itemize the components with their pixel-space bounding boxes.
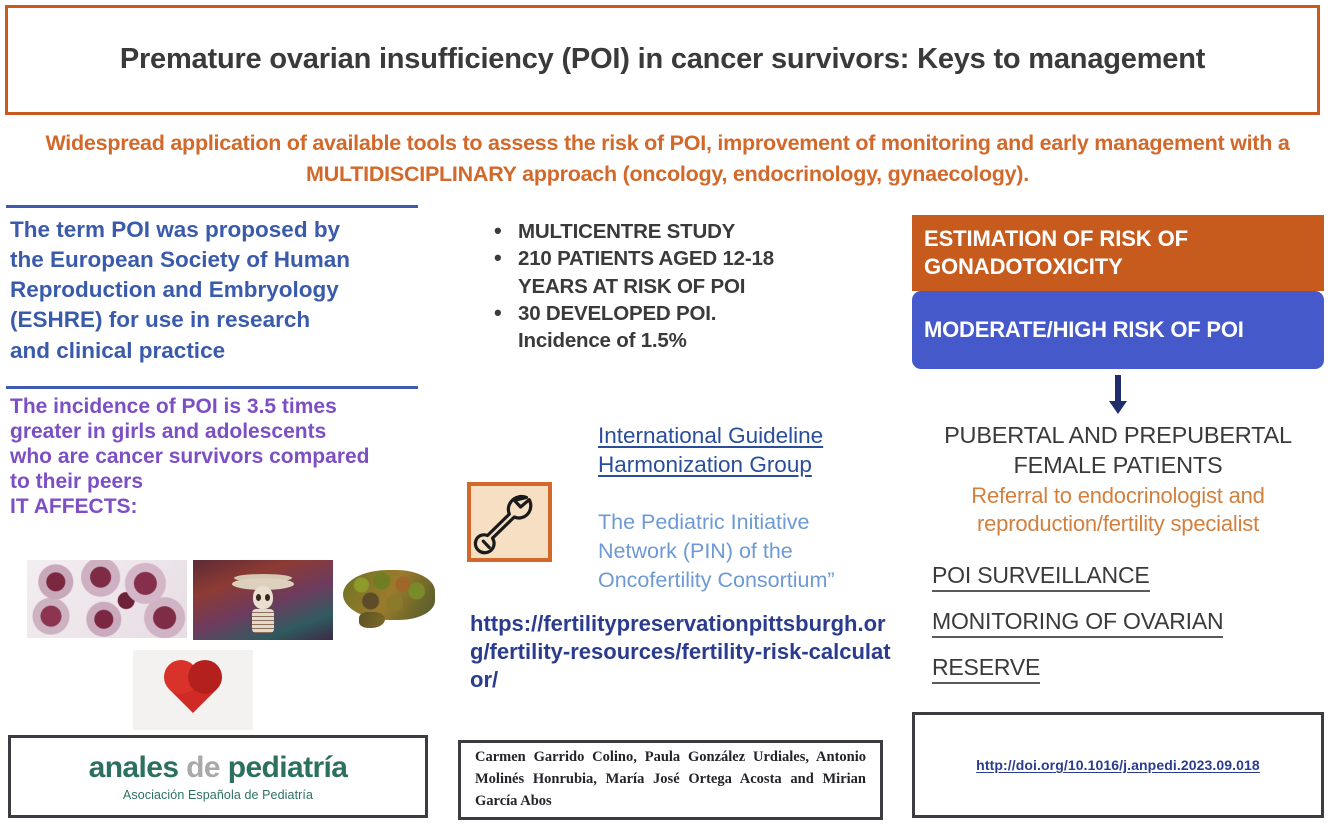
moderate-high-risk-box: MODERATE/HIGH RISK OF POI [912,291,1324,369]
journal-name-part2: de [186,751,220,784]
journal-association: Asociación Española de Pediatría [123,788,313,802]
journal-name-part1: anales [89,751,179,784]
reserve-label: RESERVE [932,654,1040,684]
journal-name: anales de pediatría [89,751,348,785]
list-item: 210 PATIENTS AGED 12-18 YEARS AT RISK OF… [460,245,910,300]
reserve-wrap: RESERVE [932,654,1327,684]
monitoring-ovarian-wrap: MONITORING OF OVARIAN [932,608,1327,638]
authors-box: Carmen Garrido Colino, Paula González Ur… [458,740,883,820]
subtitle-statement: Widespread application of available tool… [10,128,1325,189]
journal-logo-box: anales de pediatría Asociación Española … [8,735,428,818]
doi-box: http://doi.org/10.1016/j.anpedi.2023.09.… [912,712,1324,818]
referral-text: Referral to endocrinologist and reproduc… [912,482,1324,538]
ribcage-shape [252,609,274,633]
list-item: MULTICENTRE STUDY [460,218,910,245]
monitoring-ovarian-label: MONITORING OF OVARIAN [932,608,1223,638]
list-item: 30 DEVELOPED POI. Incidence of 1.5% [460,300,910,355]
pin-consortium-text: The Pediatric Initiative Network (PIN) o… [598,508,898,595]
left-column: The term POI was proposed by the Europea… [0,205,455,825]
divider-second [6,386,418,389]
wrench-icon [467,482,552,562]
ighg-link[interactable]: International Guideline Harmonization Gr… [598,422,898,480]
eye-left [256,594,261,601]
eye-right [265,594,270,601]
eshre-definition-text: The term POI was proposed by the Europea… [10,215,430,366]
cerebellum-shape [359,612,385,628]
heart-image [133,650,253,730]
poi-surveillance-wrap: POI SURVEILLANCE [932,562,1327,592]
down-arrow-icon [912,369,1324,415]
right-column: ESTIMATION OF RISK OF GONADOTOXICITY MOD… [912,215,1327,684]
divider-top [6,205,418,208]
brain-lobe-shape [343,570,435,620]
pubertal-patients-text: PUBERTAL AND PREPUBERTAL FEMALE PATIENTS [912,421,1324,480]
heart-shape [169,665,217,713]
journal-name-part3: pediatría [228,751,348,784]
study-bullet-list: MULTICENTRE STUDY 210 PATIENTS AGED 12-1… [460,218,910,354]
middle-column: MULTICENTRE STUDY 210 PATIENTS AGED 12-1… [460,218,910,354]
estimation-of-risk-box: ESTIMATION OF RISK OF GONADOTOXICITY [912,215,1324,291]
authors-list: Carmen Garrido Colino, Paula González Ur… [461,747,880,812]
skull-shape [253,586,273,609]
incidence-text: The incidence of POI is 3.5 times greate… [10,395,458,520]
fertility-risk-calculator-url[interactable]: https://fertilitypreservationpittsburgh.… [470,610,900,694]
poi-surveillance-label: POI SURVEILLANCE [932,562,1150,592]
skeleton-catrina-image [193,560,333,640]
title-box: Premature ovarian insufficiency (POI) in… [5,5,1320,115]
brain-image [337,562,443,634]
page-title: Premature ovarian insufficiency (POI) in… [120,40,1205,79]
blood-cells-image [27,560,187,638]
doi-link[interactable]: http://doi.org/10.1016/j.anpedi.2023.09.… [976,757,1260,773]
